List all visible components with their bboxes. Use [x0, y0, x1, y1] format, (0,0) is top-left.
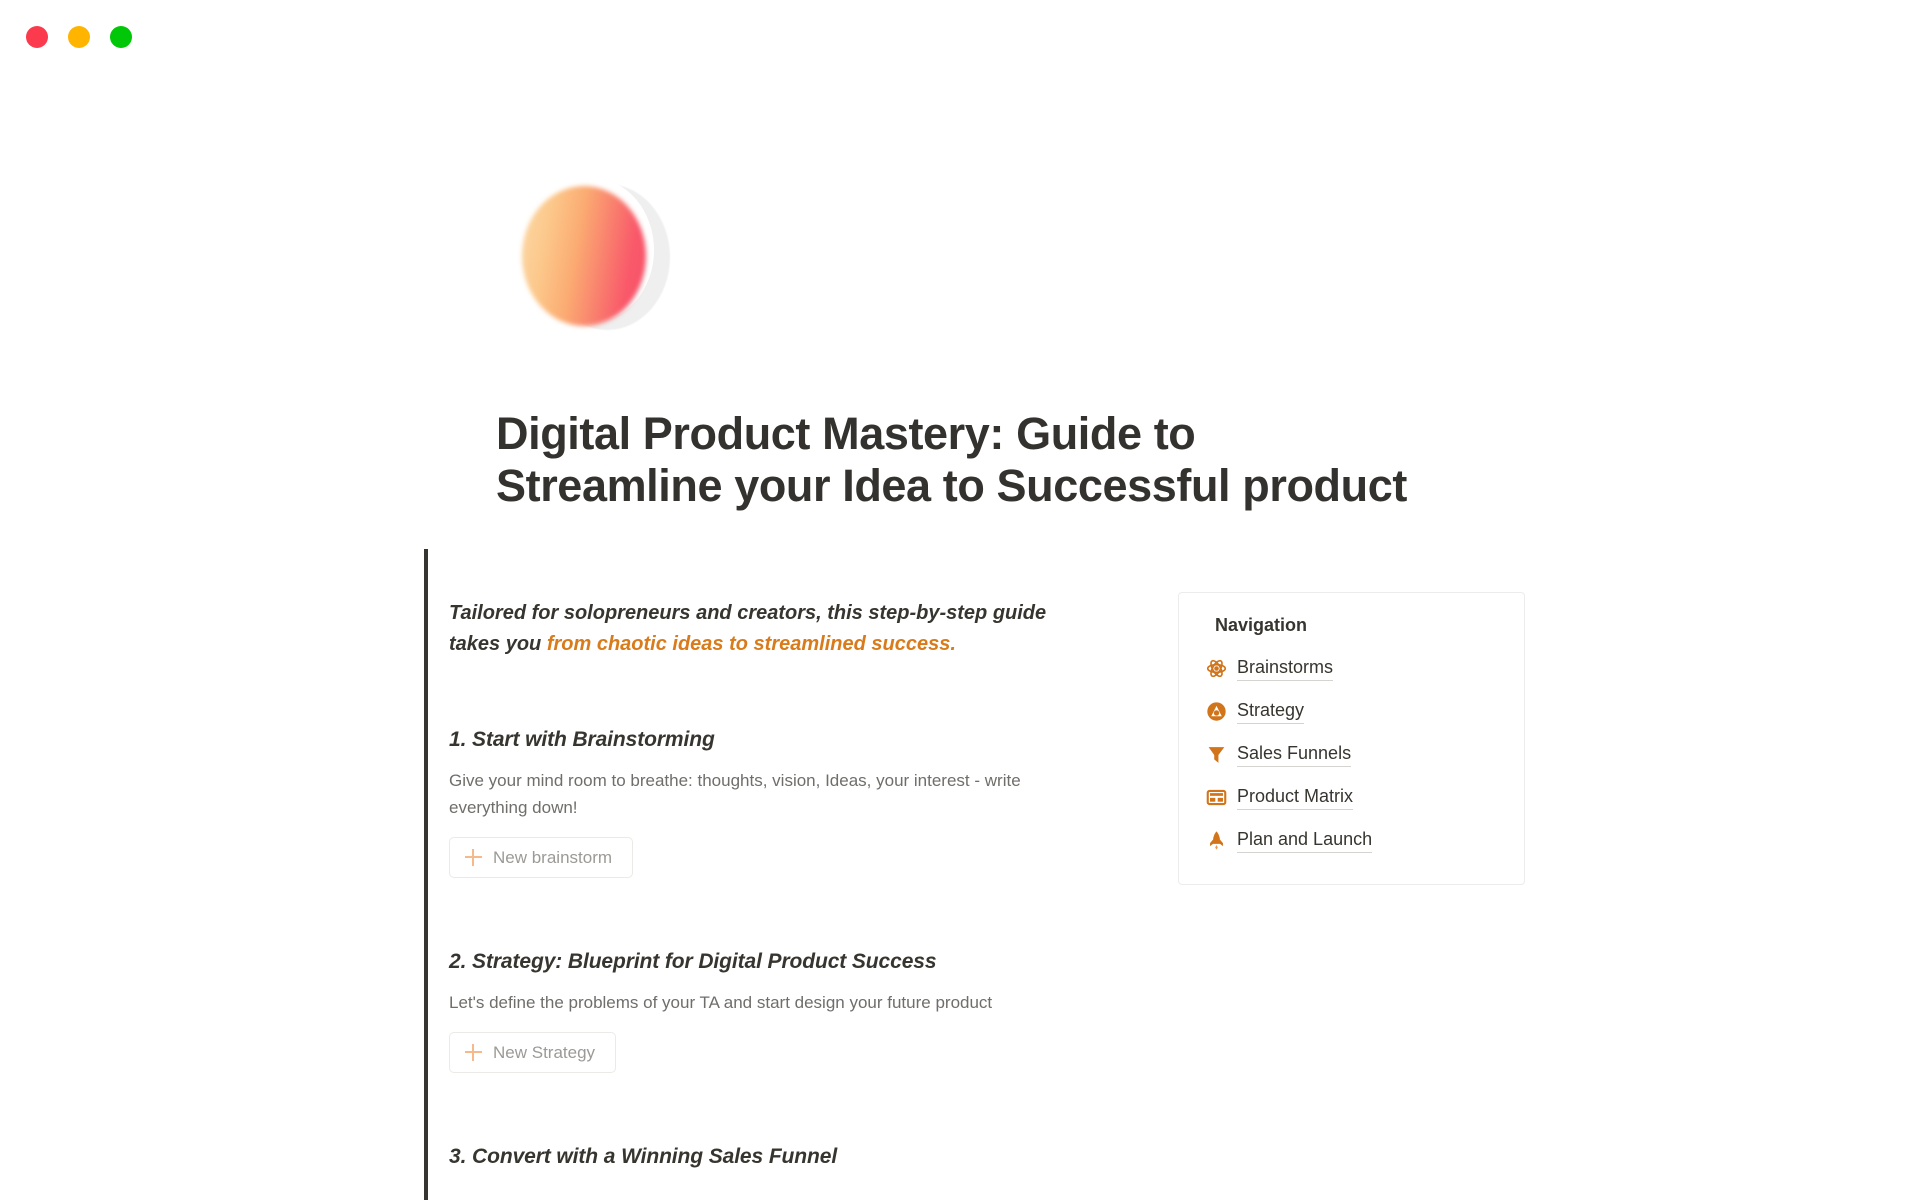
minimize-window-icon[interactable]: [68, 26, 90, 48]
page-title: Digital Product Mastery: Guide to Stream…: [496, 408, 1426, 512]
gradient-orb-icon: [522, 186, 646, 326]
section-strategy: 2. Strategy: Blueprint for Digital Produ…: [449, 948, 1109, 1073]
section-heading: 1. Start with Brainstorming: [449, 726, 1109, 754]
nav-item-label: Sales Funnels: [1237, 742, 1351, 767]
funnel-icon: [1205, 744, 1227, 766]
new-brainstorm-button[interactable]: New brainstorm: [449, 837, 633, 878]
nav-item-brainstorms[interactable]: Brainstorms: [1205, 647, 1498, 690]
window-controls: [26, 26, 132, 48]
navigation-title: Navigation: [1215, 615, 1498, 636]
plus-icon: [465, 849, 482, 866]
content-divider-rail: [424, 549, 428, 1200]
nav-item-product-matrix[interactable]: Product Matrix: [1205, 776, 1498, 819]
navigation-panel: Navigation Brainstorms Strateg: [1178, 592, 1525, 885]
nav-item-label: Strategy: [1237, 699, 1304, 724]
section-heading: 3. Convert with a Winning Sales Funnel: [449, 1143, 1109, 1171]
nav-item-plan-and-launch[interactable]: Plan and Launch: [1205, 819, 1498, 862]
new-strategy-label: New Strategy: [493, 1043, 595, 1063]
new-brainstorm-label: New brainstorm: [493, 848, 612, 868]
section-description: Give your mind room to breathe: thoughts…: [449, 767, 1079, 821]
nav-item-label: Brainstorms: [1237, 656, 1333, 681]
section-heading: 2. Strategy: Blueprint for Digital Produ…: [449, 948, 1109, 976]
rocket-icon: [1205, 830, 1227, 852]
maximize-window-icon[interactable]: [110, 26, 132, 48]
triangle-circle-icon: [1205, 701, 1227, 723]
cover-logo[interactable]: [522, 178, 670, 338]
atom-icon: [1205, 658, 1227, 680]
document-body: Tailored for solopreneurs and creators, …: [449, 598, 1109, 1171]
new-strategy-button[interactable]: New Strategy: [449, 1032, 616, 1073]
intro-highlight-text: from chaotic ideas to streamlined succes…: [547, 633, 956, 655]
intro-paragraph: Tailored for solopreneurs and creators, …: [449, 598, 1089, 660]
table-grid-icon: [1205, 787, 1227, 809]
plus-icon: [465, 1044, 482, 1061]
nav-item-label: Plan and Launch: [1237, 828, 1372, 853]
section-sales-funnel: 3. Convert with a Winning Sales Funnel: [449, 1143, 1109, 1171]
close-window-icon[interactable]: [26, 26, 48, 48]
section-description: Let's define the problems of your TA and…: [449, 989, 1079, 1016]
nav-item-sales-funnels[interactable]: Sales Funnels: [1205, 733, 1498, 776]
nav-item-label: Product Matrix: [1237, 785, 1353, 810]
app-window: Digital Product Mastery: Guide to Stream…: [0, 0, 1920, 1200]
section-brainstorming: 1. Start with Brainstorming Give your mi…: [449, 726, 1109, 878]
nav-item-strategy[interactable]: Strategy: [1205, 690, 1498, 733]
